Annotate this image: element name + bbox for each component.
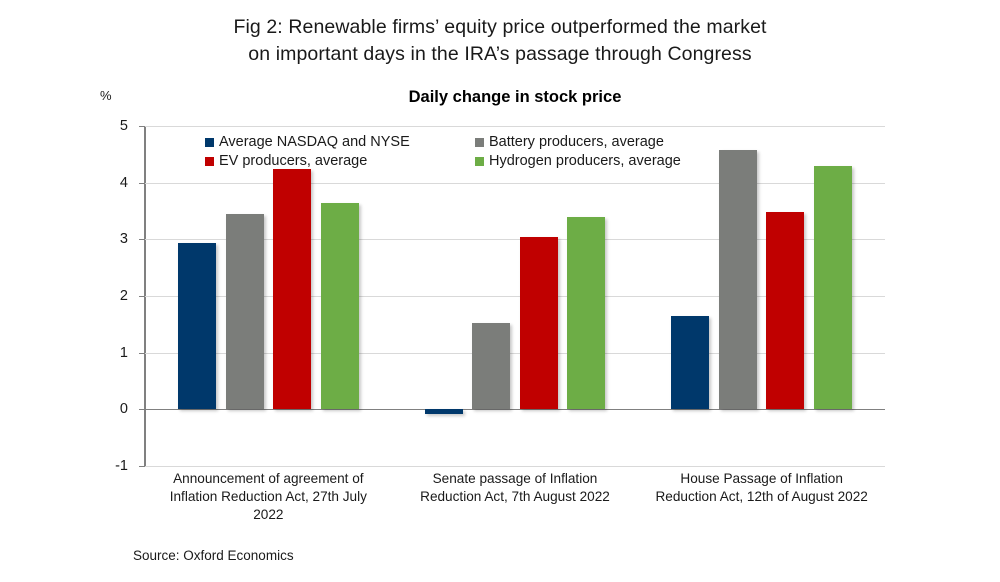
y-axis-tick — [139, 239, 145, 240]
bar[interactable] — [567, 217, 605, 409]
y-axis-tick-label: 3 — [120, 231, 128, 247]
category-label-line: Inflation Reduction Act, 27th July — [145, 488, 392, 506]
legend-item[interactable]: Average NASDAQ and NYSE — [205, 134, 410, 150]
category-label-line: 2022 — [145, 506, 392, 524]
legend-item[interactable]: Hydrogen producers, average — [475, 153, 681, 169]
legend-swatch-icon — [205, 138, 214, 147]
category-label-line: Announcement of agreement of — [145, 470, 392, 488]
bar[interactable] — [472, 323, 510, 409]
legend-swatch-icon — [205, 157, 214, 166]
bar[interactable] — [671, 316, 709, 410]
legend-swatch-icon — [475, 138, 484, 147]
gridline — [145, 126, 885, 127]
x-axis-category-label: Announcement of agreement ofInflation Re… — [145, 470, 392, 524]
gridline — [145, 466, 885, 467]
figure-container: Fig 2: Renewable firms’ equity price out… — [0, 0, 1000, 582]
legend-item[interactable]: Battery producers, average — [475, 134, 664, 150]
y-axis-tick — [139, 466, 145, 467]
figure-title: Fig 2: Renewable firms’ equity price out… — [0, 14, 1000, 68]
y-axis-tick — [139, 183, 145, 184]
gridline — [145, 183, 885, 184]
zero-line — [145, 409, 885, 410]
y-axis-tick-label: -1 — [115, 458, 128, 474]
y-axis-tick-label: 1 — [120, 345, 128, 361]
bar[interactable] — [321, 203, 359, 409]
bar[interactable] — [766, 212, 804, 410]
bar[interactable] — [814, 166, 852, 409]
y-axis-tick-label: 4 — [120, 175, 128, 191]
y-axis-unit-label: % — [100, 88, 112, 103]
category-label-line: Senate passage of Inflation — [392, 470, 639, 488]
legend-label: Hydrogen producers, average — [489, 153, 681, 169]
x-axis-category-labels: Announcement of agreement ofInflation Re… — [145, 470, 885, 530]
bar[interactable] — [425, 409, 463, 414]
x-axis-category-label: Senate passage of InflationReduction Act… — [392, 470, 639, 506]
figure-title-line-2: on important days in the IRA’s passage t… — [0, 41, 1000, 68]
legend-label: Average NASDAQ and NYSE — [219, 134, 410, 150]
legend-item[interactable]: EV producers, average — [205, 153, 367, 169]
legend-label: EV producers, average — [219, 153, 367, 169]
y-axis-tick-labels: 543210-1 — [0, 126, 138, 466]
y-axis-tick — [139, 296, 145, 297]
bar[interactable] — [178, 243, 216, 410]
legend-swatch-icon — [475, 157, 484, 166]
bar[interactable] — [226, 214, 264, 409]
source-note: Source: Oxford Economics — [133, 548, 294, 563]
chart-subtitle: Daily change in stock price — [145, 88, 885, 107]
y-axis-tick-label: 2 — [120, 288, 128, 304]
legend-label: Battery producers, average — [489, 134, 664, 150]
y-axis-tick — [139, 353, 145, 354]
category-label-line: Reduction Act, 12th of August 2022 — [638, 488, 885, 506]
y-axis-tick — [139, 126, 145, 127]
bar[interactable] — [273, 169, 311, 409]
y-axis-tick-label: 5 — [120, 118, 128, 134]
x-axis-category-label: House Passage of InflationReduction Act,… — [638, 470, 885, 506]
bar[interactable] — [520, 237, 558, 409]
bar[interactable] — [719, 150, 757, 410]
figure-title-line-1: Fig 2: Renewable firms’ equity price out… — [0, 14, 1000, 41]
y-axis-tick-label: 0 — [120, 401, 128, 417]
category-label-line: Reduction Act, 7th August 2022 — [392, 488, 639, 506]
plot-area — [145, 126, 885, 466]
category-label-line: House Passage of Inflation — [638, 470, 885, 488]
chart-legend: Average NASDAQ and NYSEBattery producers… — [205, 134, 705, 172]
y-axis-tick — [139, 409, 145, 410]
